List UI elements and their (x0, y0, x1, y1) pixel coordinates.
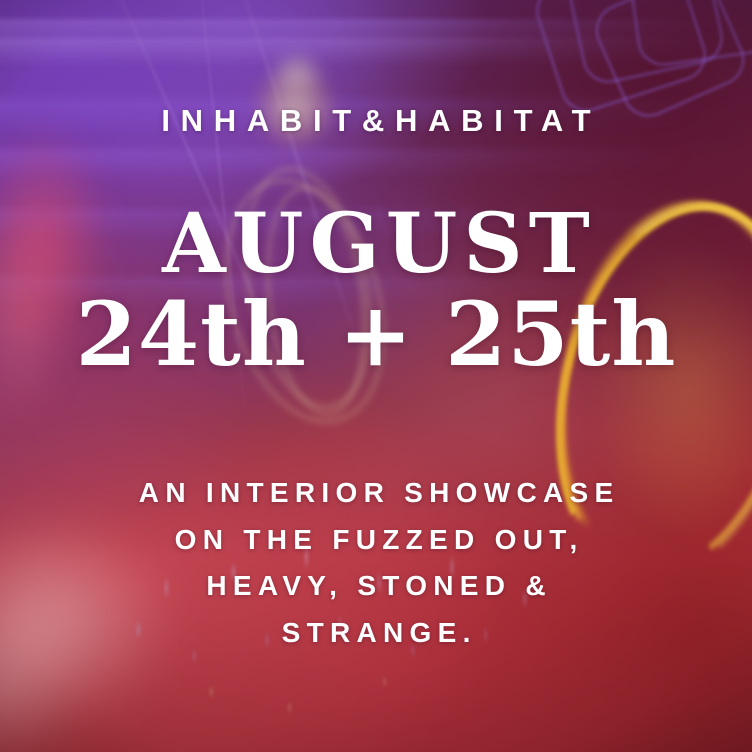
event-poster: INHABIT&HABITAT AUGUST 24th + 25th AN IN… (0, 0, 752, 752)
description-line-4: STRANGE. (0, 610, 752, 657)
description-line-1: AN INTERIOR SHOWCASE (0, 470, 752, 517)
poster-date-month: AUGUST (0, 206, 752, 283)
poster-content: INHABIT&HABITAT AUGUST 24th + 25th AN IN… (0, 0, 752, 752)
poster-headline: INHABIT&HABITAT (0, 105, 752, 136)
poster-date-block: AUGUST 24th + 25th (0, 206, 752, 382)
description-line-2: ON THE FUZZED OUT, (0, 517, 752, 564)
description-line-3: HEAVY, STONED & (0, 563, 752, 610)
poster-description: AN INTERIOR SHOWCASE ON THE FUZZED OUT, … (0, 470, 752, 656)
poster-date-days: 24th + 25th (0, 287, 752, 382)
